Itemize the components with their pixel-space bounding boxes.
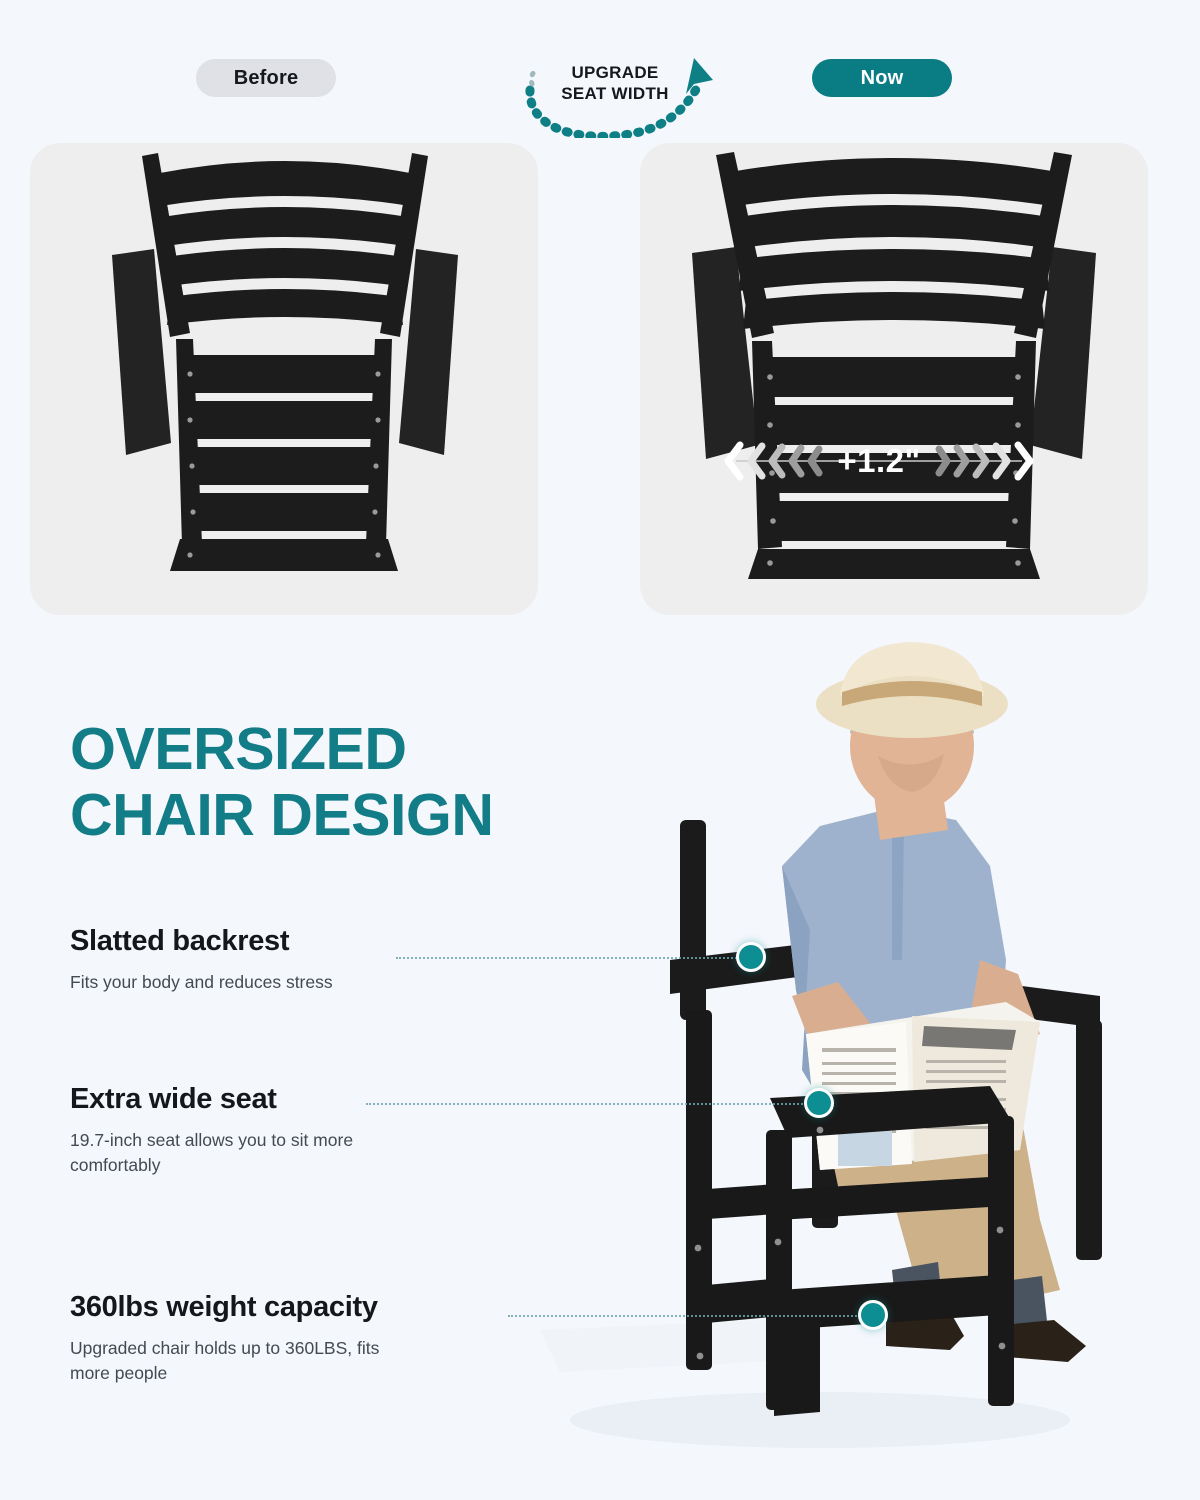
before-product-card [30, 143, 538, 615]
chair-top-view-before-image [30, 143, 538, 615]
upgrade-badge-text: UPGRADE SEAT WIDTH [540, 62, 690, 105]
chair-top-view-now-image [640, 143, 1148, 615]
hotspot-dot-backrest[interactable] [736, 942, 766, 972]
feature-description: Fits your body and reduces stress [70, 970, 400, 995]
now-pill: Now [812, 59, 952, 97]
upgrade-seat-width-badge: UPGRADE SEAT WIDTH [508, 48, 723, 138]
before-pill-label: Before [234, 67, 299, 90]
seat-width-value: +1.2" [724, 433, 1034, 489]
leader-line-seat [366, 1103, 814, 1105]
leader-line-backrest [396, 957, 748, 959]
now-product-card [640, 143, 1148, 615]
now-pill-label: Now [861, 67, 904, 90]
seat-width-annotation: +1.2" [724, 433, 1034, 489]
feature-description: 19.7-inch seat allows you to sit more co… [70, 1128, 400, 1178]
before-pill: Before [196, 59, 336, 97]
upgrade-badge-line1: UPGRADE [540, 62, 690, 83]
upgrade-badge-line2: SEAT WIDTH [540, 83, 690, 104]
feature-description: Upgraded chair holds up to 360LBS, fits … [70, 1336, 400, 1386]
hotspot-dot-seat[interactable] [804, 1088, 834, 1118]
leader-line-capacity [508, 1315, 868, 1317]
hotspot-dot-capacity[interactable] [858, 1300, 888, 1330]
man-sitting-on-chair-photo [520, 630, 1180, 1490]
product-feature-page: Before UPGRADE SEAT WIDTH Now [0, 0, 1200, 1500]
